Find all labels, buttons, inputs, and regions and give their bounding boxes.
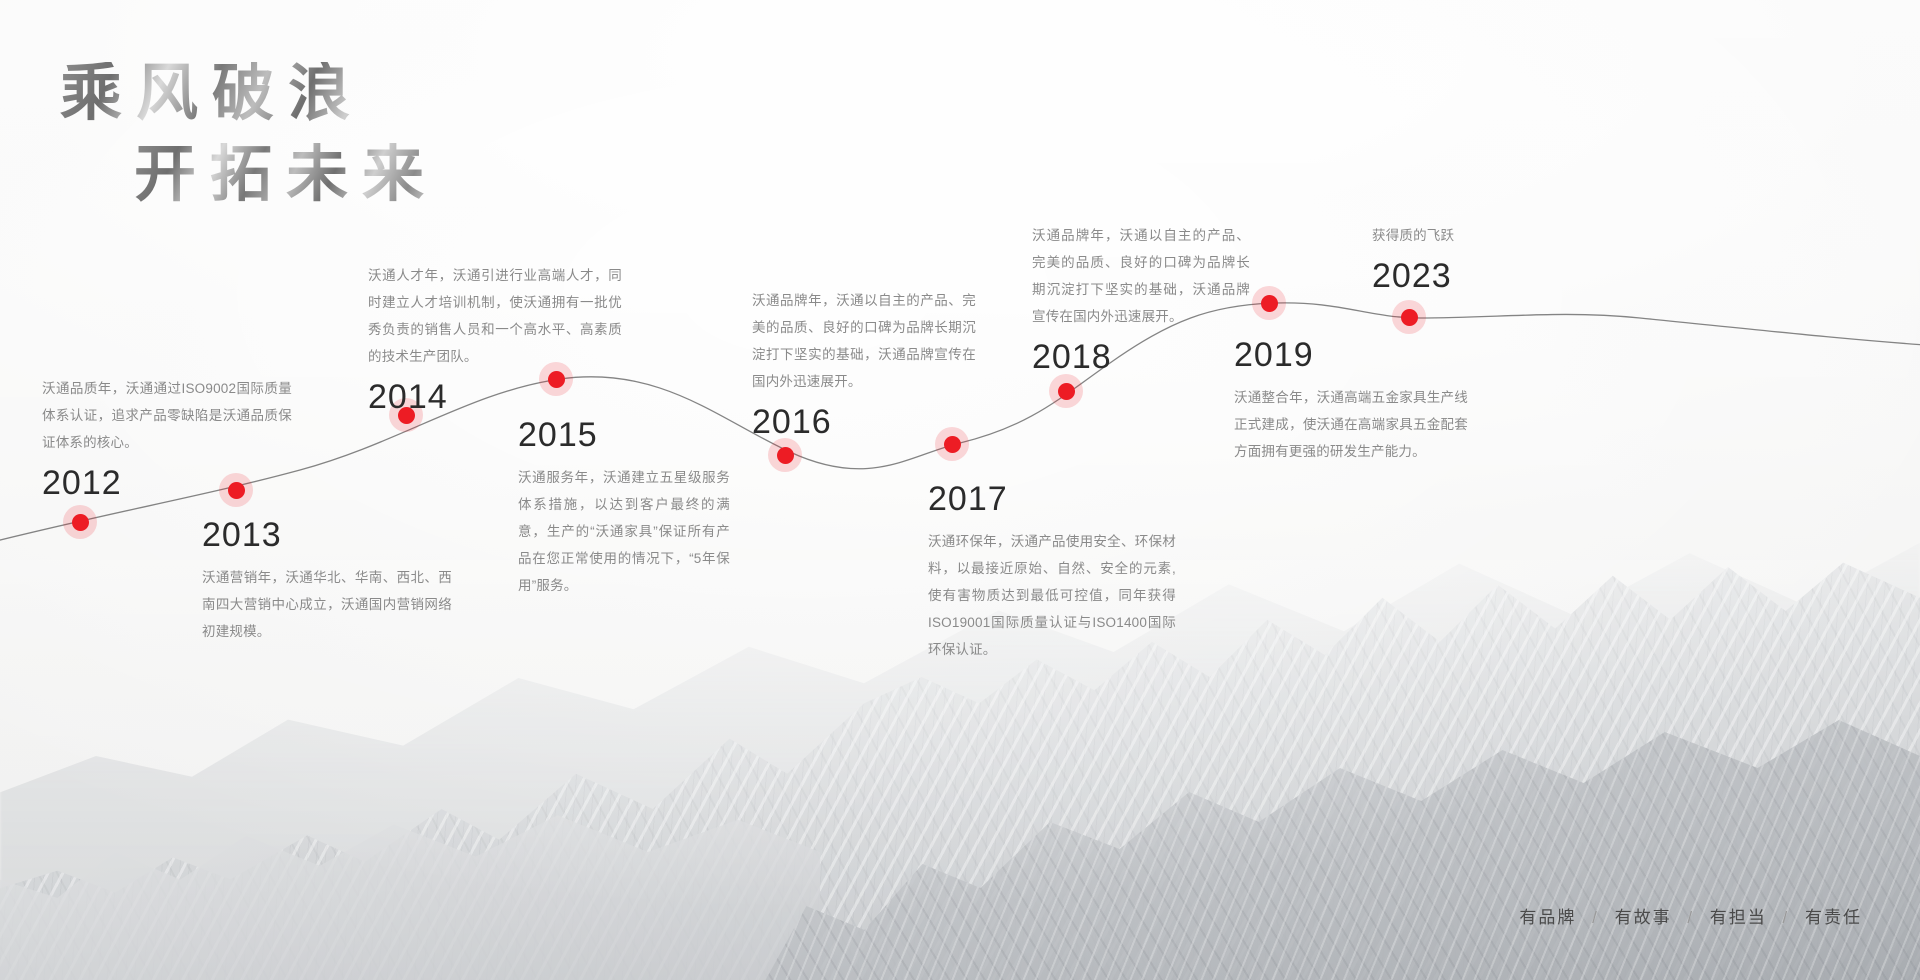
footer-item-1: 有故事 bbox=[1615, 908, 1672, 927]
timeline-dot-2017[interactable] bbox=[935, 427, 969, 461]
timeline-dot-2015[interactable] bbox=[539, 362, 573, 396]
timeline-desc-2014: 沃通人才年，沃通引进行业高端人才，同时建立人才培训机制，使沃通拥有一批优秀负责的… bbox=[368, 262, 622, 370]
timeline-desc-2019: 沃通整合年，沃通高端五金家具生产线正式建成，使沃通在高端家具五金配套方面拥有更强… bbox=[1234, 384, 1468, 465]
timeline-year-2018: 2018 bbox=[1032, 340, 1250, 374]
timeline-block-2018: 沃通品牌年，沃通以自主的产品、完美的品质、良好的口碑为品牌长期沉淀打下坚实的基础… bbox=[1032, 222, 1250, 374]
timeline-desc-2012: 沃通品质年，沃通通过ISO9002国际质量体系认证，追求产品零缺陷是沃通品质保证… bbox=[42, 375, 292, 456]
timeline-year-2013: 2013 bbox=[202, 518, 452, 552]
timeline-block-2012: 沃通品质年，沃通通过ISO9002国际质量体系认证，追求产品零缺陷是沃通品质保证… bbox=[42, 375, 292, 500]
timeline-block-2019: 2019 沃通整合年，沃通高端五金家具生产线正式建成，使沃通在高端家具五金配套方… bbox=[1234, 338, 1468, 465]
timeline-block-2014: 沃通人才年，沃通引进行业高端人才，同时建立人才培训机制，使沃通拥有一批优秀负责的… bbox=[368, 262, 622, 414]
timeline-dot-2013[interactable] bbox=[219, 473, 253, 507]
timeline-year-2014: 2014 bbox=[368, 380, 622, 414]
footer-item-3: 有责任 bbox=[1805, 908, 1862, 927]
timeline-dot-2023[interactable] bbox=[1392, 300, 1426, 334]
headline: 乘风破浪 开拓未来 bbox=[60, 62, 438, 208]
timeline-year-2012: 2012 bbox=[42, 466, 292, 500]
timeline-desc-2017: 沃通环保年，沃通产品使用安全、环保材料，以最接近原始、自然、安全的元素,使有害物… bbox=[928, 528, 1176, 663]
timeline-year-2015: 2015 bbox=[518, 418, 730, 452]
timeline-block-2023: 获得质的飞跃 2023 bbox=[1372, 222, 1572, 293]
timeline-block-2015: 2015 沃通服务年，沃通建立五星级服务体系措施，以达到客户最终的满意，生产的“… bbox=[518, 418, 730, 599]
timeline-dot-2019[interactable] bbox=[1252, 286, 1286, 320]
timeline-dot-2012[interactable] bbox=[63, 505, 97, 539]
timeline-block-2013: 2013 沃通营销年，沃通华北、华南、西北、西南四大营销中心成立，沃通国内营销网… bbox=[202, 518, 452, 645]
timeline-year-2019: 2019 bbox=[1234, 338, 1468, 372]
timeline-desc-2015: 沃通服务年，沃通建立五星级服务体系措施，以达到客户最终的满意，生产的“沃通家具”… bbox=[518, 464, 730, 599]
timeline-year-2017: 2017 bbox=[928, 482, 1176, 516]
timeline-block-2017: 2017 沃通环保年，沃通产品使用安全、环保材料，以最接近原始、自然、安全的元素… bbox=[928, 482, 1176, 663]
footer-separator-0: / bbox=[1592, 908, 1599, 927]
footer-item-0: 有品牌 bbox=[1519, 908, 1576, 927]
timeline-desc-2016: 沃通品牌年，沃通以自主的产品、完美的品质、良好的口碑为品牌长期沉淀打下坚实的基础… bbox=[752, 287, 976, 395]
timeline-desc-2023: 获得质的飞跃 bbox=[1372, 222, 1572, 249]
timeline-dot-2016[interactable] bbox=[768, 438, 802, 472]
headline-line-2: 开拓未来 bbox=[134, 143, 438, 208]
footer-separator-1: / bbox=[1687, 908, 1694, 927]
footer-separator-2: / bbox=[1783, 908, 1790, 927]
timeline-desc-2018: 沃通品牌年，沃通以自主的产品、完美的品质、良好的口碑为品牌长期沉淀打下坚实的基础… bbox=[1032, 222, 1250, 330]
footer-item-2: 有担当 bbox=[1710, 908, 1767, 927]
timeline-desc-2013: 沃通营销年，沃通华北、华南、西北、西南四大营销中心成立，沃通国内营销网络初建规模… bbox=[202, 564, 452, 645]
footer-tagline: 有品牌 / 有故事 / 有担当 / 有责任 bbox=[1519, 903, 1862, 928]
headline-line-1: 乘风破浪 bbox=[60, 62, 438, 127]
timeline-block-2016: 沃通品牌年，沃通以自主的产品、完美的品质、良好的口碑为品牌长期沉淀打下坚实的基础… bbox=[752, 287, 976, 439]
timeline-dot-2018[interactable] bbox=[1049, 374, 1083, 408]
timeline-year-2023: 2023 bbox=[1372, 259, 1572, 293]
